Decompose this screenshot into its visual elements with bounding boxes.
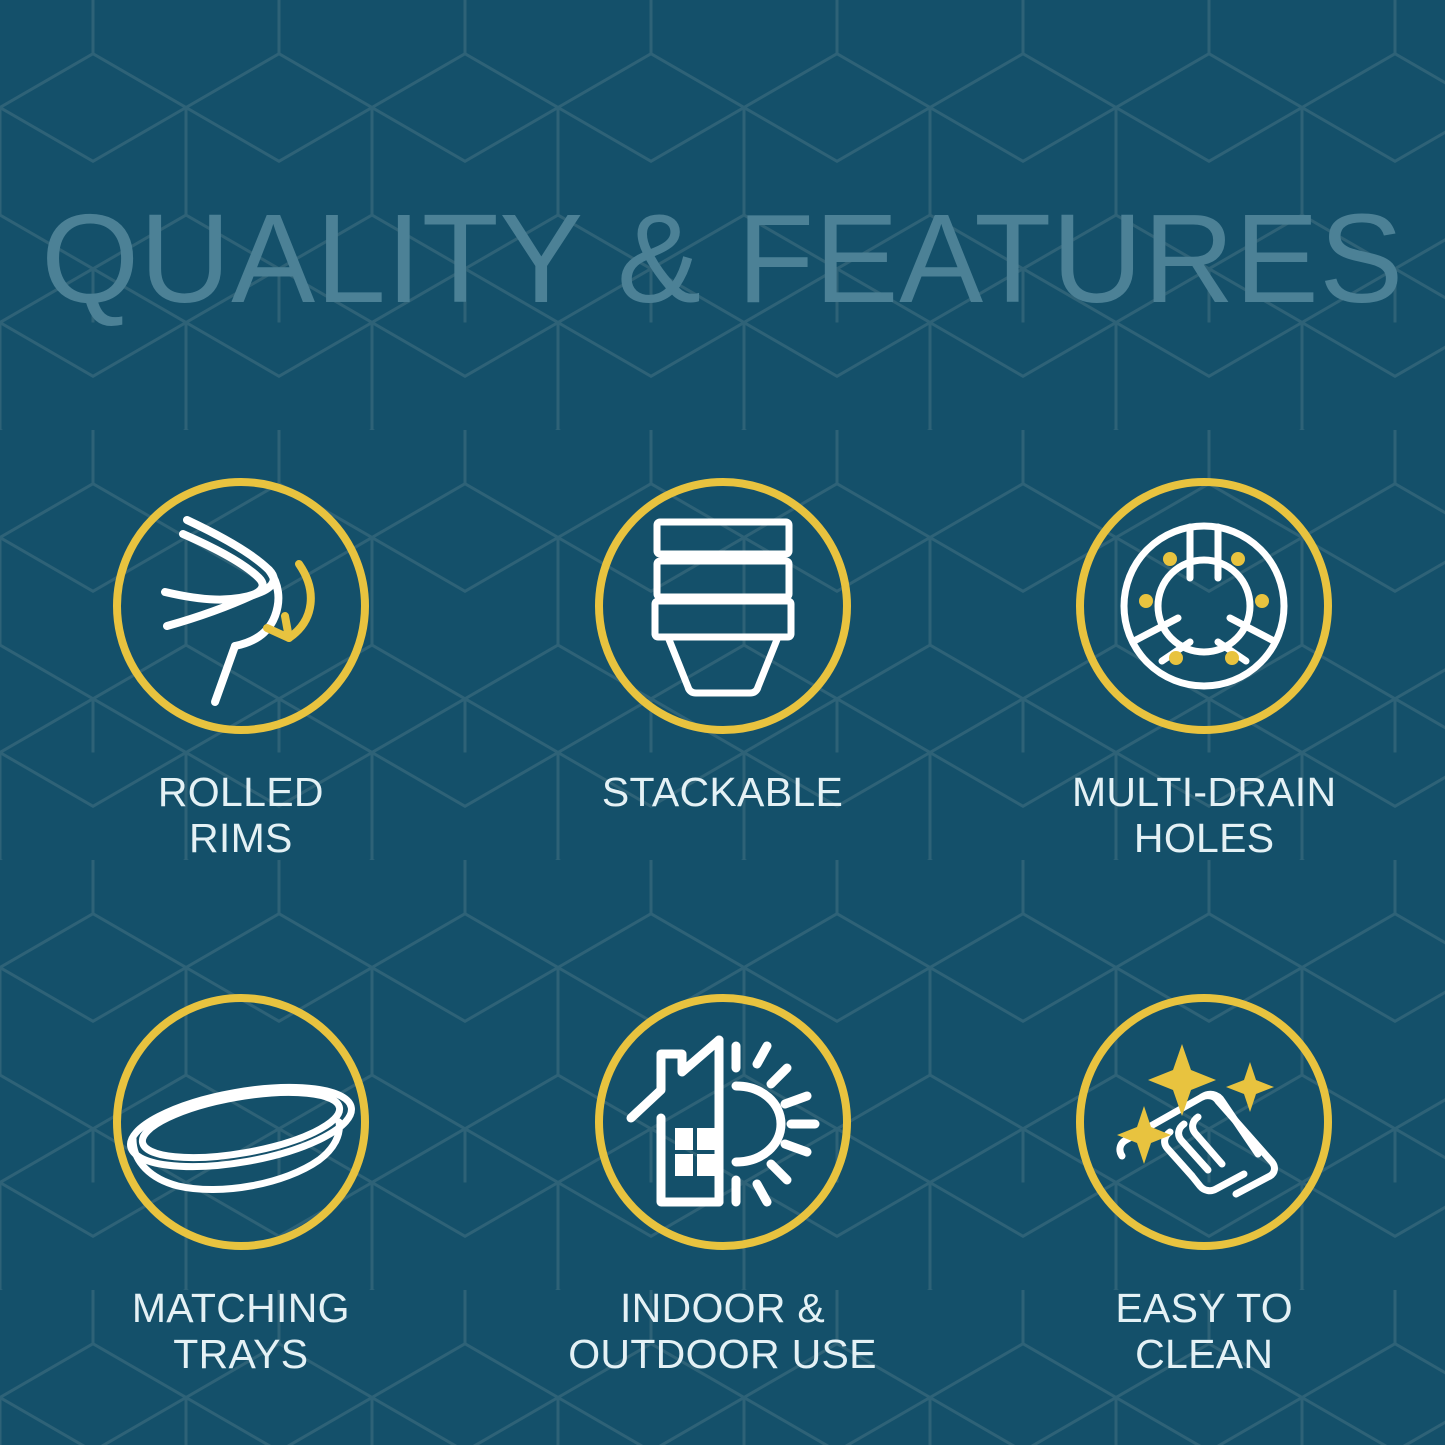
feature-label: INDOOR & OUTDOOR USE [568,1286,877,1378]
feature-label: MATCHING TRAYS [132,1286,350,1378]
feature-infographic: QUALITY & FEATURES [0,0,1445,1445]
feature-matching-trays: MATCHING TRAYS [0,984,482,1378]
rolled-rim-icon-badge [103,468,379,744]
page-title: QUALITY & FEATURES [0,196,1445,322]
features-row-bottom: MATCHING TRAYS [0,984,1445,1378]
features-row-top: ROLLED RIMS [0,468,1445,862]
saucer-tray-icon-badge [103,984,379,1260]
drain-holes-base-icon [1066,468,1342,744]
feature-indoor-outdoor-use: INDOOR & OUTDOOR USE [482,984,964,1378]
feature-rolled-rims: ROLLED RIMS [0,468,482,862]
feature-stackable: STACKABLE [482,468,964,862]
house-sun-icon-badge [585,984,861,1260]
stacked-pots-icon [585,468,861,744]
wiping-hand-sparkle-icon [1066,984,1342,1260]
features-grid: ROLLED RIMS [0,468,1445,1378]
feature-label: MULTI-DRAIN HOLES [1072,770,1336,862]
drain-holes-base-icon-badge [1066,468,1342,744]
feature-multi-drain-holes: MULTI-DRAIN HOLES [963,468,1445,862]
feature-label: STACKABLE [602,770,843,816]
feature-easy-to-clean: EASY TO CLEAN [963,984,1445,1378]
wiping-hand-sparkle-icon-badge [1066,984,1342,1260]
feature-label: ROLLED RIMS [158,770,324,862]
rolled-rim-icon [103,468,379,744]
feature-label: EASY TO CLEAN [1115,1286,1293,1378]
stacked-pots-icon-badge [585,468,861,744]
house-sun-icon [585,984,861,1260]
saucer-tray-icon [103,984,379,1260]
